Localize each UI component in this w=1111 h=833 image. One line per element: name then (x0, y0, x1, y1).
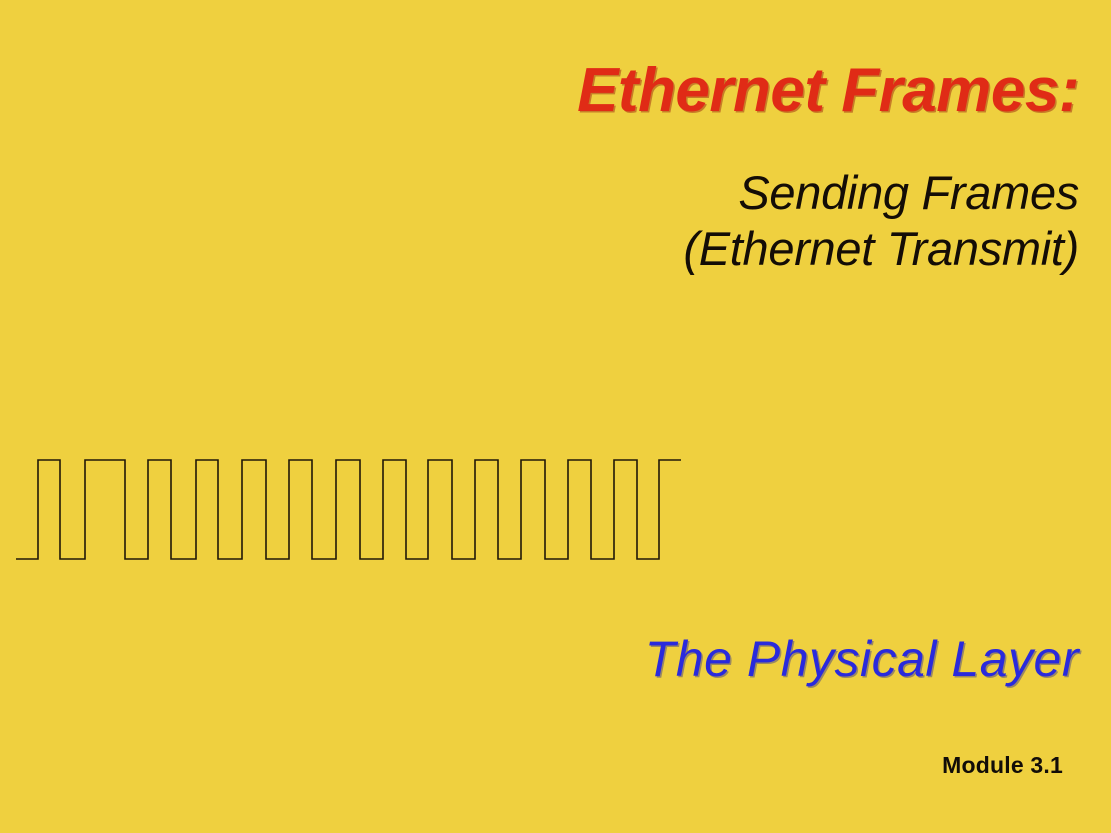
subtitle-line-2: (Ethernet Transmit) (0, 221, 1079, 277)
layer-caption-block: The Physical Layer (0, 632, 1079, 687)
subtitle-line-1: Sending Frames (0, 165, 1079, 221)
layer-caption-label: The Physical Layer (0, 632, 1079, 687)
square-wave-icon (0, 440, 720, 580)
module-number-label: Module 3.1 (0, 752, 1063, 779)
title-block: Ethernet Frames: (0, 58, 1079, 123)
subtitle-block: Sending Frames (Ethernet Transmit) (0, 165, 1079, 278)
page-title: Ethernet Frames: (0, 58, 1079, 123)
module-label-block: Module 3.1 (0, 752, 1063, 779)
square-wave-path (16, 460, 681, 559)
slide-canvas: Ethernet Frames: Sending Frames (Etherne… (0, 0, 1111, 833)
waveform-illustration (0, 440, 720, 580)
